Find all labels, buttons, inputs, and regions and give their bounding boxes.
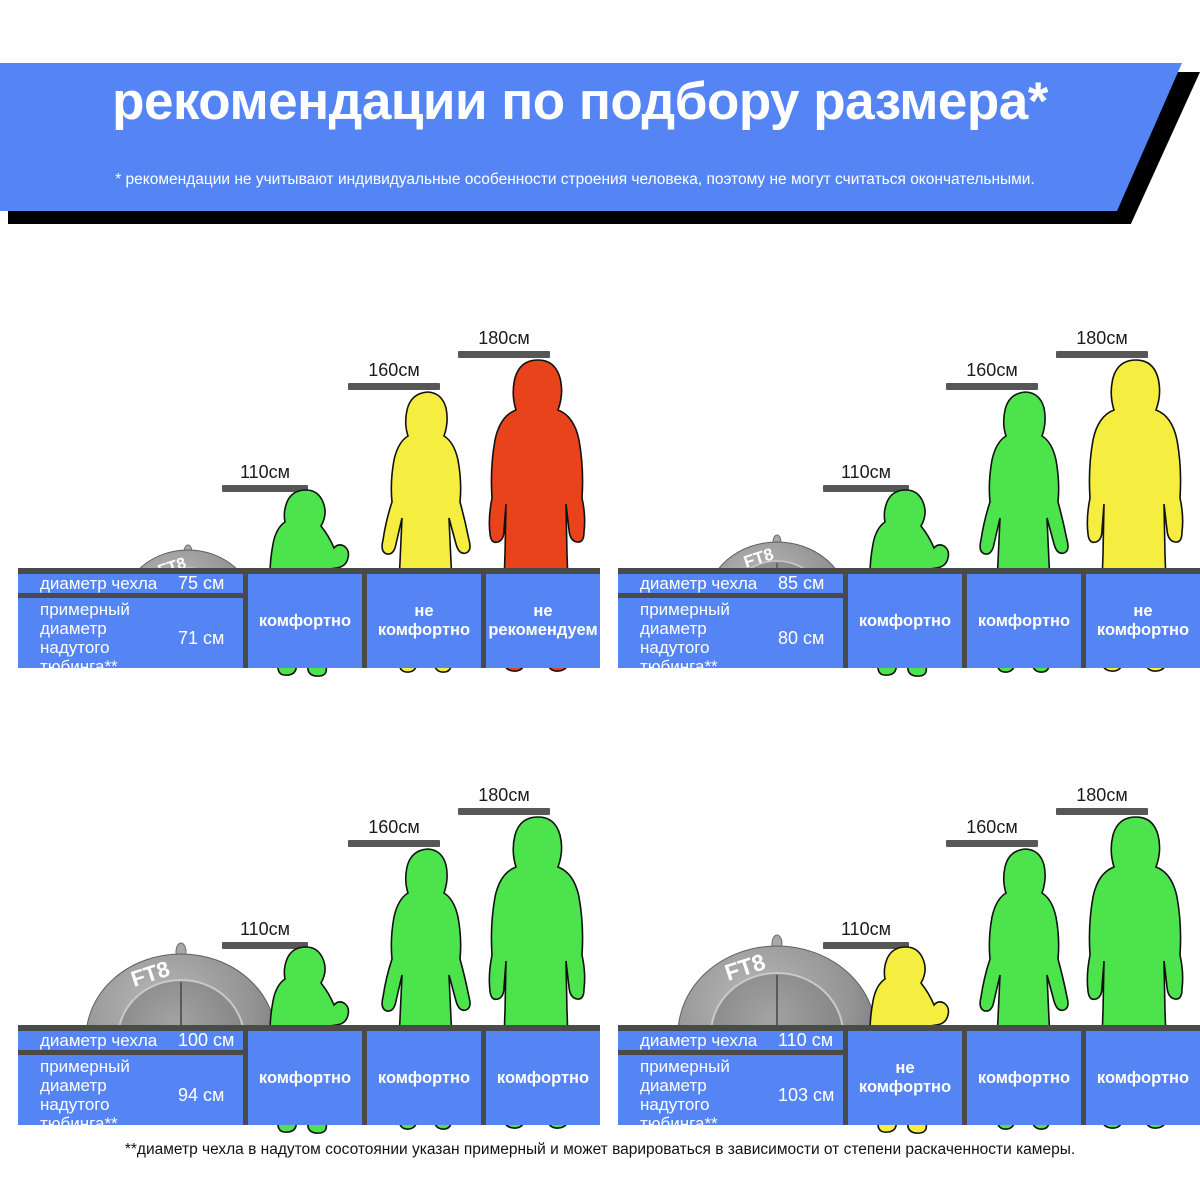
verdict-man: не рекомендуем [486,574,600,668]
height-label: 160см [946,817,1038,838]
spec-row-cover: диаметр чехла 110 см [618,1031,843,1055]
spec-row-cover: диаметр чехла 75 см [18,574,243,598]
spec-value-inflated: 71 см [178,628,224,649]
spec-value-cover: 100 см [178,1030,234,1051]
spec-value-inflated: 80 см [778,628,824,649]
height-bar [458,808,550,815]
header-banner: рекомендации по подбору размера* * реком… [0,60,1200,225]
spec-value-cover: 110 см [778,1030,833,1051]
spec-row-inflated: примерный диаметр надутого тюбинга** 103… [618,1055,843,1133]
spec-table: диаметр чехла 100 см примерный диаметр н… [18,1025,600,1125]
spec-row-cover: диаметр чехла 100 см [18,1031,243,1055]
spec-label-inflated: примерный диаметр надутого тюбинга** [40,1057,130,1133]
verdict-woman: не комфортно [367,574,486,668]
height-marker-160: 160см [348,360,440,390]
size-panel-100: FT8 110см 160см 180см [0,680,600,1135]
height-label: 110см [823,919,909,940]
height-marker-180: 180см [458,785,550,815]
verdict-woman: комфортно [967,1031,1086,1125]
verdict-woman: комфортно [367,1031,486,1125]
height-label: 180см [1056,328,1148,349]
verdict-woman: комфортно [967,574,1086,668]
verdict-man: не комфортно [1086,574,1200,668]
spec-value-cover: 85 см [778,573,824,594]
spec-column: диаметр чехла 100 см примерный диаметр н… [18,1031,248,1125]
spec-row-inflated: примерный диаметр надутого тюбинга** 80 … [618,598,843,676]
height-label: 180см [458,328,550,349]
height-label: 160см [348,360,440,381]
spec-table: диаметр чехла 85 см примерный диаметр на… [618,568,1200,668]
spec-table: диаметр чехла 75 см примерный диаметр на… [18,568,600,668]
height-bar [458,351,550,358]
height-label: 180см [458,785,550,806]
spec-value-inflated: 103 см [778,1085,834,1106]
verdict-child: комфортно [248,1031,367,1125]
height-bar [946,383,1038,390]
verdict-man: комфортно [1086,1031,1200,1125]
size-panel-75: FT8 110см 160см 180см [0,228,600,678]
size-panel-85: FT8 110см 160см 180см [608,228,1200,678]
size-panel-110: FT8 110см 160см 180см [608,680,1200,1135]
spec-label-cover: диаметр чехла [40,1031,157,1050]
height-marker-160: 160см [348,817,440,847]
height-bar [946,840,1038,847]
spec-value-cover: 75 см [178,573,224,594]
height-bar [348,840,440,847]
spec-label-cover: диаметр чехла [40,574,157,593]
height-marker-160: 160см [946,360,1038,390]
height-marker-160: 160см [946,817,1038,847]
page-title: рекомендации по подбору размера* [0,75,1160,128]
height-label: 110см [823,462,909,483]
spec-table: диаметр чехла 110 см примерный диаметр н… [618,1025,1200,1125]
verdict-man: комфортно [486,1031,600,1125]
height-label: 110см [222,462,308,483]
height-label: 160см [348,817,440,838]
verdict-child: комфортно [248,574,367,668]
height-bar [348,383,440,390]
verdict-child: комфортно [848,574,967,668]
height-bar [1056,351,1148,358]
footnote: **диаметр чехла в надутом сосотоянии ука… [0,1141,1200,1159]
height-label: 110см [222,919,308,940]
spec-label-cover: диаметр чехла [640,574,757,593]
spec-column: диаметр чехла 75 см примерный диаметр на… [18,574,248,668]
spec-column: диаметр чехла 110 см примерный диаметр н… [618,1031,848,1125]
spec-row-inflated: примерный диаметр надутого тюбинга** 94 … [18,1055,243,1133]
verdict-child: не комфортно [848,1031,967,1125]
spec-label-inflated: примерный диаметр надутого тюбинга** [640,1057,730,1133]
spec-label-cover: диаметр чехла [640,1031,757,1050]
spec-value-inflated: 94 см [178,1085,224,1106]
spec-column: диаметр чехла 85 см примерный диаметр на… [618,574,848,668]
spec-row-cover: диаметр чехла 85 см [618,574,843,598]
spec-label-inflated: примерный диаметр надутого тюбинга** [40,600,130,676]
height-bar [1056,808,1148,815]
height-label: 160см [946,360,1038,381]
height-marker-180: 180см [1056,785,1148,815]
height-label: 180см [1056,785,1148,806]
header-band: рекомендации по подбору размера* * реком… [0,63,1182,211]
height-marker-180: 180см [1056,328,1148,358]
spec-label-inflated: примерный диаметр надутого тюбинга** [640,600,730,676]
header-subtitle: * рекомендации не учитывают индивидуальн… [0,171,1150,189]
spec-row-inflated: примерный диаметр надутого тюбинга** 71 … [18,598,243,676]
height-marker-180: 180см [458,328,550,358]
